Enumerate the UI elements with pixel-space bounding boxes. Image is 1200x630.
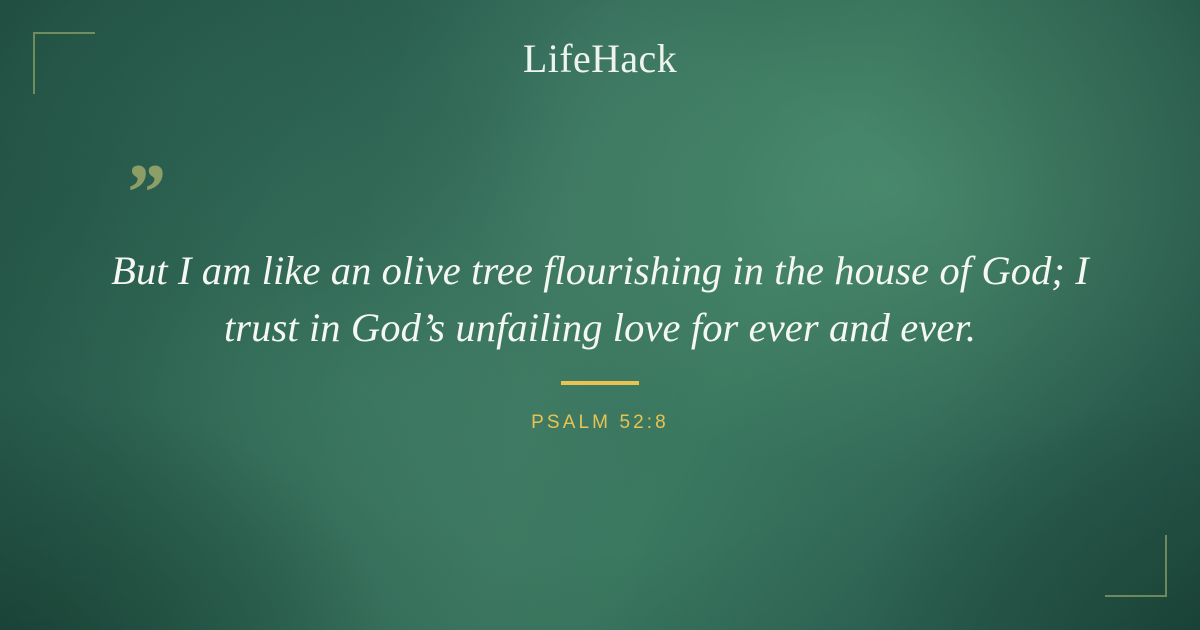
quotation-mark-icon: ” bbox=[123, 152, 164, 234]
corner-bracket-bottom-right-icon bbox=[1105, 535, 1167, 597]
divider-rule bbox=[561, 381, 639, 385]
quote-text: But I am like an olive tree flourishing … bbox=[96, 242, 1104, 356]
quote-card: LifeHack ” But I am like an olive tree f… bbox=[0, 0, 1200, 630]
quote-attribution: PSALM 52:8 bbox=[0, 412, 1200, 435]
brand-logo: LifeHack bbox=[0, 39, 1200, 79]
